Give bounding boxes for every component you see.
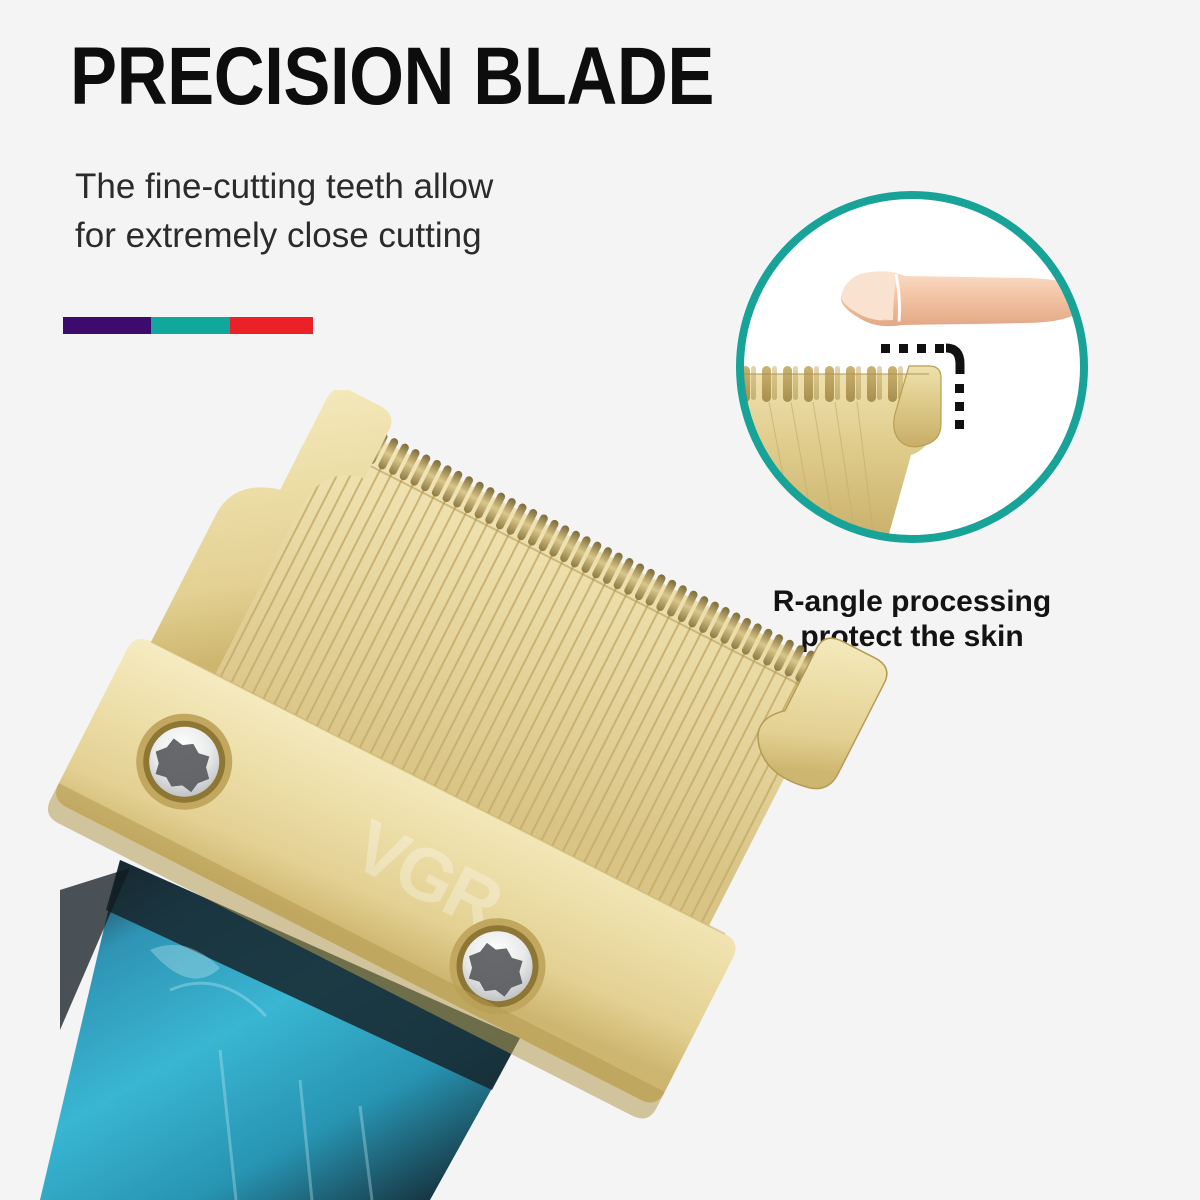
page-title: PRECISION BLADE bbox=[70, 36, 714, 118]
infographic-canvas: PRECISION BLADE The fine-cutting teeth a… bbox=[0, 0, 1200, 1200]
product-illustration: VGR bbox=[0, 390, 900, 1200]
page-subtitle: The fine-cutting teeth allow for extreme… bbox=[75, 162, 493, 260]
fingertip-icon bbox=[841, 271, 1085, 326]
accent-segment-teal bbox=[151, 317, 230, 334]
accent-segment-red bbox=[230, 317, 313, 334]
accent-segment-purple bbox=[63, 317, 151, 334]
accent-bar bbox=[63, 317, 313, 334]
